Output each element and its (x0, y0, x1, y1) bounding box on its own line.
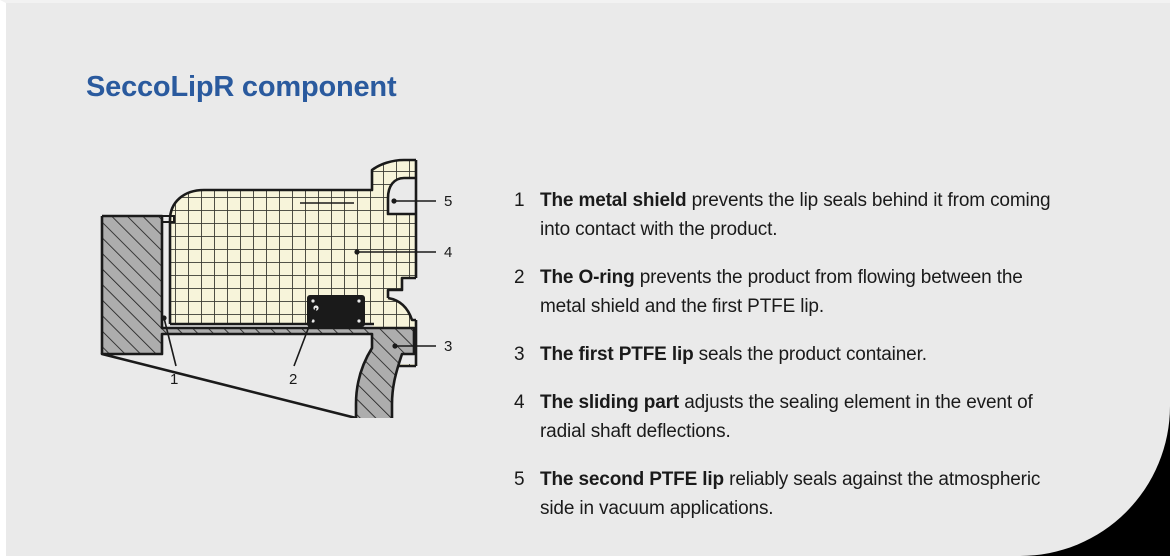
cross-section-svg: 5 4 3 1 (84, 158, 464, 418)
list-item-bold: The metal shield (540, 190, 686, 211)
list-item-bold: The O-ring (540, 267, 635, 288)
callout-1-label: 1 (170, 371, 178, 388)
list-item-text: The first PTFE lip seals the product con… (540, 340, 927, 369)
list-item: 2 The O-ring prevents the product from f… (514, 263, 1054, 321)
callout-3-label: 3 (444, 338, 452, 355)
callout-5-label: 5 (444, 193, 452, 210)
list-item-text: The metal shield prevents the lip seals … (540, 186, 1054, 244)
list-item-rest: seals the product container. (694, 344, 927, 365)
list-item: 3 The first PTFE lip seals the product c… (514, 340, 1054, 369)
callout-1: 1 (161, 315, 178, 388)
callout-2-label: 2 (289, 371, 297, 388)
list-item: 5 The second PTFE lip reliably seals aga… (514, 465, 1054, 523)
callout-5: 5 (391, 193, 452, 210)
list-item-text: The sliding part adjusts the sealing ele… (540, 388, 1054, 446)
list-item-text: The second PTFE lip reliably seals again… (540, 465, 1054, 523)
list-item-bold: The first PTFE lip (540, 344, 694, 365)
list-item-bold: The second PTFE lip (540, 469, 724, 490)
list-item-number: 5 (514, 465, 540, 494)
list-item-number: 4 (514, 388, 540, 417)
list-item: 1 The metal shield prevents the lip seal… (514, 186, 1054, 244)
list-item: 4 The sliding part adjusts the sealing e… (514, 388, 1054, 446)
component-list: 1 The metal shield prevents the lip seal… (514, 186, 1054, 542)
list-item-bold: The sliding part (540, 392, 679, 413)
callout-4-label: 4 (444, 244, 452, 261)
list-item-number: 1 (514, 186, 540, 215)
list-item-text: The O-ring prevents the product from flo… (540, 263, 1054, 321)
o-ring-region (308, 296, 364, 326)
slide-canvas: SeccoLipR component (0, 0, 1170, 556)
list-item-number: 3 (514, 340, 540, 369)
page-title: SeccoLipR component (86, 71, 396, 104)
list-item-number: 2 (514, 263, 540, 292)
cross-section-figure: 5 4 3 1 (84, 158, 464, 418)
